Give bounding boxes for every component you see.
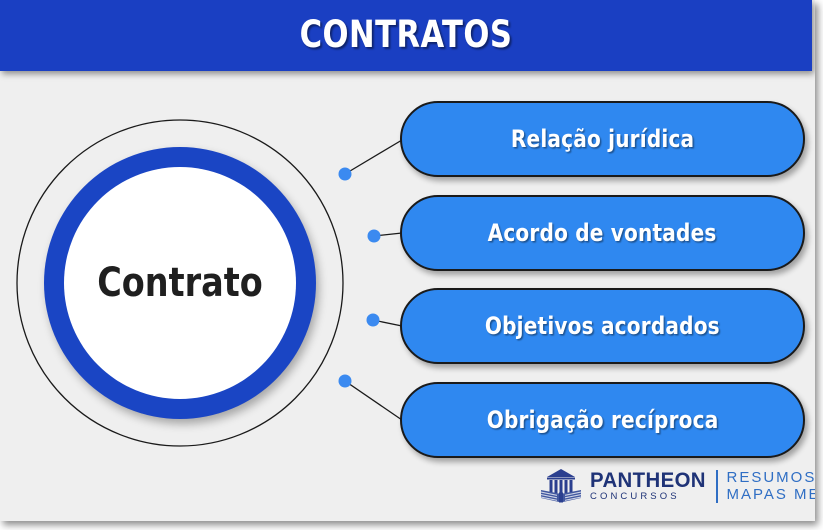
connector-line-0 (345, 140, 402, 174)
connector-line-1 (374, 233, 402, 236)
logo-tagline-line-2: MAPAS MENTAIS (726, 486, 815, 503)
branch-card-acordo-de-vontades[interactable]: Acordo de vontades (400, 195, 805, 271)
connector-dot-2 (367, 314, 380, 327)
branch-card-relacao-juridica[interactable]: Relação jurídica (400, 101, 805, 177)
logo-tagline: RESUMOS & MAPAS MENTAIS (726, 469, 815, 503)
connector-line-2 (373, 320, 402, 326)
footer-logo: PANTHEON CONCURSOS RESUMOS & MAPAS MENTA… (538, 463, 815, 509)
slide-canvas: CONTRATOS Contrato Relação jurídica Acor… (0, 0, 815, 521)
branch-card-label: Obrigação recíproca (487, 406, 719, 434)
central-node[interactable]: Contrato (44, 147, 316, 419)
logo-primary-text: PANTHEON (590, 470, 706, 491)
logo-divider (716, 470, 718, 503)
connector-dot-1 (368, 230, 381, 243)
branch-card-label: Objetivos acordados (485, 312, 720, 340)
page-title: CONTRATOS (32, 0, 779, 71)
logo-wordmark: PANTHEON CONCURSOS (590, 470, 709, 503)
central-node-label: Contrato (97, 260, 262, 306)
logo-tagline-line-1: RESUMOS & (726, 469, 815, 486)
branch-card-objetivos-acordados[interactable]: Objetivos acordados (400, 288, 805, 364)
connector-dot-3 (339, 375, 352, 388)
logo-secondary-text: CONCURSOS (590, 491, 709, 503)
central-node-inner: Contrato (64, 167, 296, 399)
pantheon-building-book-icon (538, 466, 584, 506)
connector-dot-0 (339, 168, 352, 181)
branch-card-label: Acordo de vontades (488, 219, 717, 247)
header-bar: CONTRATOS (0, 0, 812, 71)
branch-card-label: Relação jurídica (511, 125, 694, 153)
connector-line-3 (345, 381, 402, 420)
branch-card-obrigacao-reciproca[interactable]: Obrigação recíproca (400, 382, 805, 458)
